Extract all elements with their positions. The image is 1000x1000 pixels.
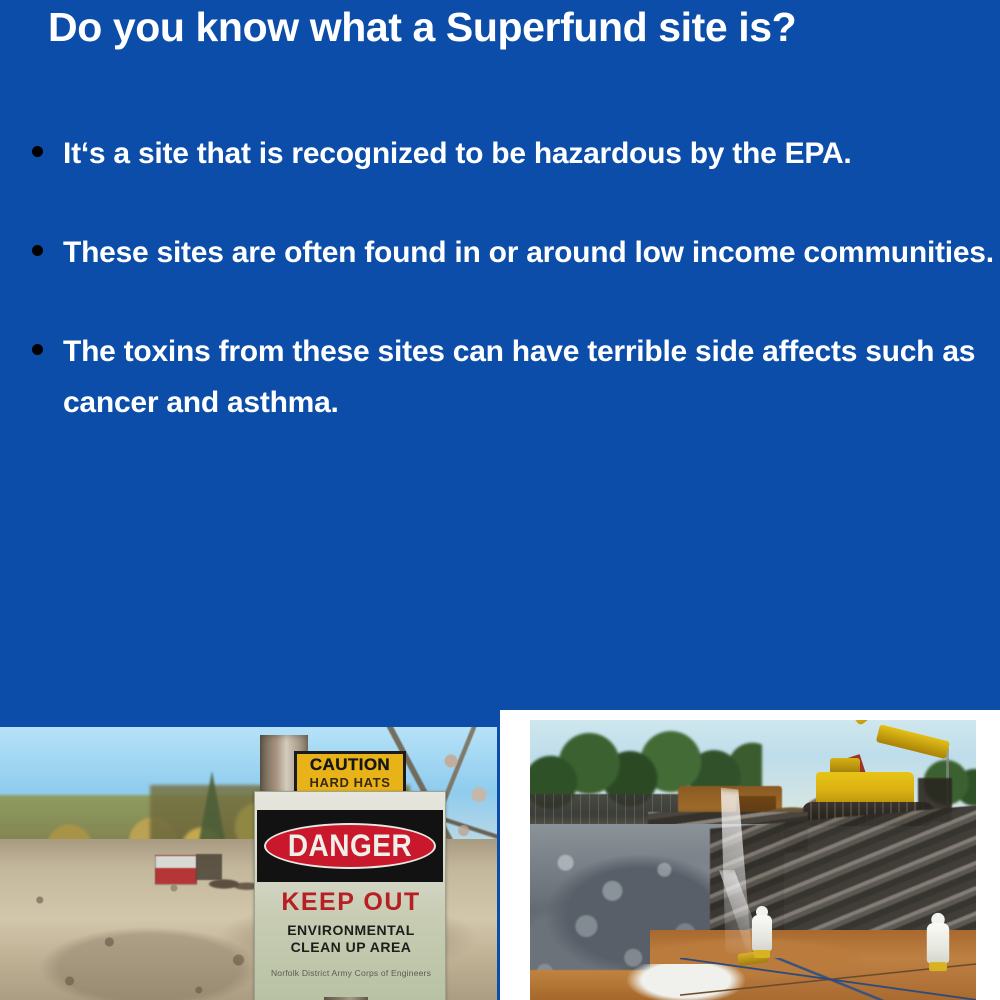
- worker-suit: [752, 915, 772, 951]
- bullet-text: The toxins from these sites can have ter…: [63, 326, 1000, 428]
- worker-boots: [754, 950, 770, 958]
- hazmat-worker: [927, 913, 949, 971]
- sign-detail-text: ENVIRONMENTAL CLEAN UP AREA: [255, 922, 447, 956]
- excavator-body: [816, 772, 914, 806]
- superfund-danger-sign-photo: CAUTION HARD HATS REQUIRED DANGER KEEP O…: [0, 727, 497, 1000]
- worker-suit: [927, 923, 949, 963]
- bullet-text: It‘s a site that is recognized to be haz…: [63, 128, 1000, 179]
- list-item: The toxins from these sites can have ter…: [0, 326, 1000, 428]
- danger-banner: DANGER: [257, 810, 443, 882]
- keep-out-label: KEEP OUT: [255, 888, 447, 916]
- danger-oval: DANGER: [264, 823, 436, 869]
- bullet-dot-icon: [32, 245, 43, 256]
- page-title: Do you know what a Superfund site is?: [48, 0, 1000, 56]
- hazmat-worker: [752, 906, 772, 958]
- right-photo-frame: [500, 710, 1000, 1000]
- slide: Do you know what a Superfund site is? It…: [0, 0, 1000, 1000]
- bullet-dot-icon: [32, 344, 43, 355]
- bullet-list: It‘s a site that is recognized to be haz…: [0, 128, 1000, 476]
- warning-sign-assembly: CAUTION HARD HATS REQUIRED DANGER KEEP O…: [246, 751, 452, 1000]
- site-equipment: [155, 855, 197, 885]
- worker-boots: [929, 962, 947, 971]
- danger-keep-out-sign: DANGER KEEP OUT ENVIRONMENTAL CLEAN UP A…: [254, 791, 446, 1000]
- list-item: It‘s a site that is recognized to be haz…: [0, 128, 1000, 179]
- list-item: These sites are often found in or around…: [0, 227, 1000, 278]
- superfund-remediation-excavation-photo: [530, 720, 976, 1000]
- sign-detail-line2: CLEAN UP AREA: [255, 939, 447, 956]
- sign-credit-label: Norfolk District Army Corps of Engineers: [255, 968, 447, 978]
- caution-sign-line1: CAUTION: [297, 755, 403, 775]
- photo-row: CAUTION HARD HATS REQUIRED DANGER KEEP O…: [0, 710, 1000, 1000]
- danger-label: DANGER: [288, 830, 412, 861]
- sign-detail-line1: ENVIRONMENTAL: [255, 922, 447, 939]
- bullet-dot-icon: [32, 146, 43, 157]
- bullet-text: These sites are often found in or around…: [63, 227, 1000, 278]
- caution-sign-line2: HARD HATS: [297, 775, 403, 790]
